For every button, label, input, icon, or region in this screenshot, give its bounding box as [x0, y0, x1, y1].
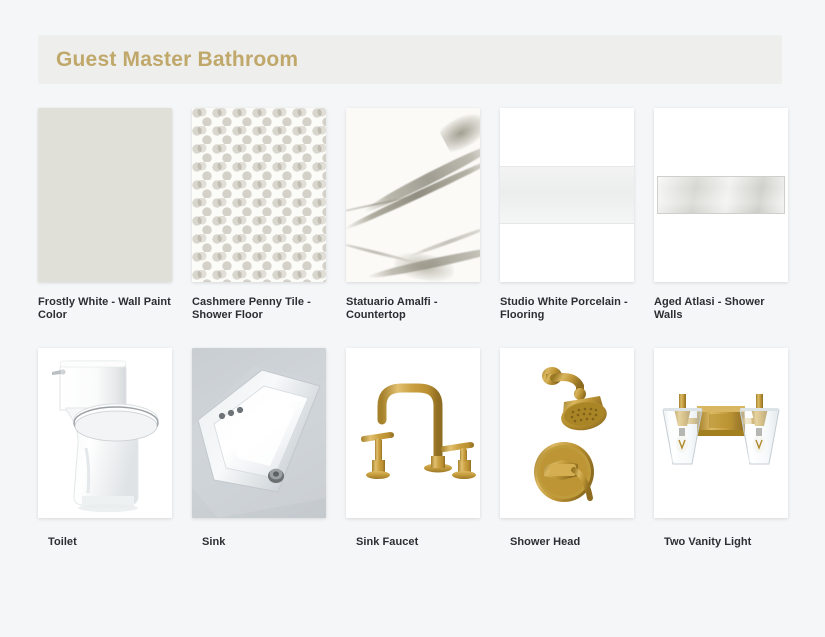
product-image-paint[interactable]	[38, 108, 172, 282]
paint-swatch-icon	[38, 108, 172, 282]
shower-head-icon	[500, 348, 634, 518]
design-board: Guest Master Bathroom Frostly White - Wa…	[0, 0, 825, 637]
product-cell-toilet[interactable]: Toilet	[38, 348, 172, 549]
product-cell-paint[interactable]: Frostly White - Wall Paint Color	[38, 108, 172, 322]
product-cell-shower-head[interactable]: Shower Head	[500, 348, 634, 549]
finishes-row: Frostly White - Wall Paint Color Cashmer…	[38, 108, 786, 322]
product-image-shower-walls[interactable]	[654, 108, 788, 282]
product-label: Toilet	[48, 536, 172, 549]
product-label: Studio White Porcelain - Flooring	[500, 296, 634, 322]
product-cell-flooring[interactable]: Studio White Porcelain - Flooring	[500, 108, 634, 322]
product-label: Shower Head	[510, 536, 634, 549]
product-label: Sink	[202, 536, 326, 549]
product-image-toilet[interactable]	[38, 348, 172, 518]
board-header: Guest Master Bathroom	[38, 35, 782, 84]
product-label: Cashmere Penny Tile -Shower Floor	[192, 296, 326, 322]
faucet-icon	[346, 348, 480, 518]
vanity-light-icon	[654, 348, 788, 518]
toilet-icon	[38, 348, 172, 518]
product-image-flooring[interactable]	[500, 108, 634, 282]
penny-tile-overlay-icon	[192, 108, 326, 282]
marble-slab-icon	[346, 108, 480, 282]
product-label: Sink Faucet	[356, 536, 480, 549]
product-label: Frostly White - Wall Paint Color	[38, 296, 172, 322]
product-image-vanity-light[interactable]	[654, 348, 788, 518]
porcelain-tile-icon	[500, 108, 634, 282]
product-image-shower-head[interactable]	[500, 348, 634, 518]
product-cell-countertop[interactable]: Statuario Amalfi - Countertop	[346, 108, 480, 322]
product-image-sink[interactable]	[192, 348, 326, 518]
product-image-penny-tile[interactable]	[192, 108, 326, 282]
product-image-countertop[interactable]	[346, 108, 480, 282]
product-label: Two Vanity Light	[664, 536, 788, 549]
product-cell-sink-faucet[interactable]: Sink Faucet	[346, 348, 480, 549]
product-grid: Frostly White - Wall Paint Color Cashmer…	[38, 108, 786, 549]
fixtures-row: Toilet	[38, 348, 786, 549]
product-label: Statuario Amalfi - Countertop	[346, 296, 480, 322]
product-label: Aged Atlasi - Shower Walls	[654, 296, 788, 322]
product-cell-sink[interactable]: Sink	[192, 348, 326, 549]
product-cell-penny-tile[interactable]: Cashmere Penny Tile -Shower Floor	[192, 108, 326, 322]
product-cell-vanity-light[interactable]: Two Vanity Light	[654, 348, 788, 549]
sink-icon	[192, 348, 326, 518]
product-cell-shower-walls[interactable]: Aged Atlasi - Shower Walls	[654, 108, 788, 322]
page-title: Guest Master Bathroom	[56, 48, 298, 72]
subway-tile-icon	[654, 108, 788, 282]
product-image-sink-faucet[interactable]	[346, 348, 480, 518]
